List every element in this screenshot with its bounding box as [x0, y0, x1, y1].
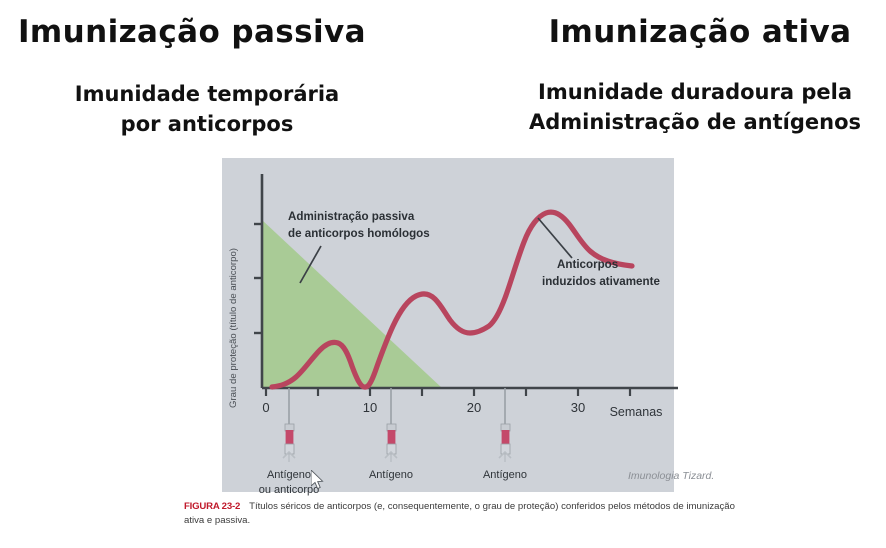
antibody-titer-chart: Grau de proteção (título de anticorpo) 0…: [180, 158, 740, 498]
page-title-passive: Imunização passiva: [18, 14, 398, 50]
syringe-label-2-line1: Antígeno: [369, 469, 413, 481]
syringe-marker-3: [499, 388, 511, 462]
x-tick-label-0: 0: [262, 400, 269, 415]
syringe-label-1-line1: Antígeno: [267, 469, 311, 481]
syringe-marker-2: [385, 388, 397, 462]
subtitle-active: Imunidade duradoura pela Administração d…: [505, 78, 885, 138]
active-annotation-line1: Anticorpos: [557, 258, 618, 271]
syringe-barrel-fill: [286, 430, 294, 444]
syringe-label-3-line1: Antígeno: [483, 469, 527, 481]
syringe-marker-1: [283, 388, 295, 462]
subtitle-active-line2: Administração de antígenos: [505, 108, 885, 138]
subtitle-passive-line1: Imunidade temporária: [22, 80, 392, 110]
passive-annotation-line2: de anticorpos homólogos: [288, 227, 430, 240]
active-annotation-line2: induzidos ativamente: [542, 275, 660, 288]
figure-caption-label: FIGURA 23-2: [184, 501, 240, 512]
figure-container: Grau de proteção (título de anticorpo) 0…: [180, 158, 740, 540]
syringe-barrel-fill: [502, 430, 510, 444]
subtitle-passive-line2: por anticorpos: [22, 110, 392, 140]
subtitle-passive: Imunidade temporária por anticorpos: [22, 80, 392, 140]
x-tick-label-20: 20: [467, 400, 481, 415]
x-axis-label: Semanas: [610, 405, 663, 419]
syringe-barrel-fill: [388, 430, 396, 444]
x-tick-label-30: 30: [571, 400, 585, 415]
figure-caption: FIGURA 23-2Títulos séricos de anticorpos…: [184, 500, 740, 527]
subtitle-active-line1: Imunidade duradoura pela: [505, 78, 885, 108]
figure-caption-text: Títulos séricos de anticorpos (e, conseq…: [184, 501, 735, 526]
passive-annotation-line1: Administração passiva: [288, 210, 415, 223]
x-tick-label-10: 10: [363, 400, 377, 415]
page-title-active: Imunização ativa: [520, 14, 880, 50]
source-credit: Imunologia Tizard.: [628, 470, 714, 482]
y-axis-label: Grau de proteção (título de anticorpo): [228, 248, 239, 408]
syringe-label-1-line2: ou anticorpo: [259, 484, 320, 496]
